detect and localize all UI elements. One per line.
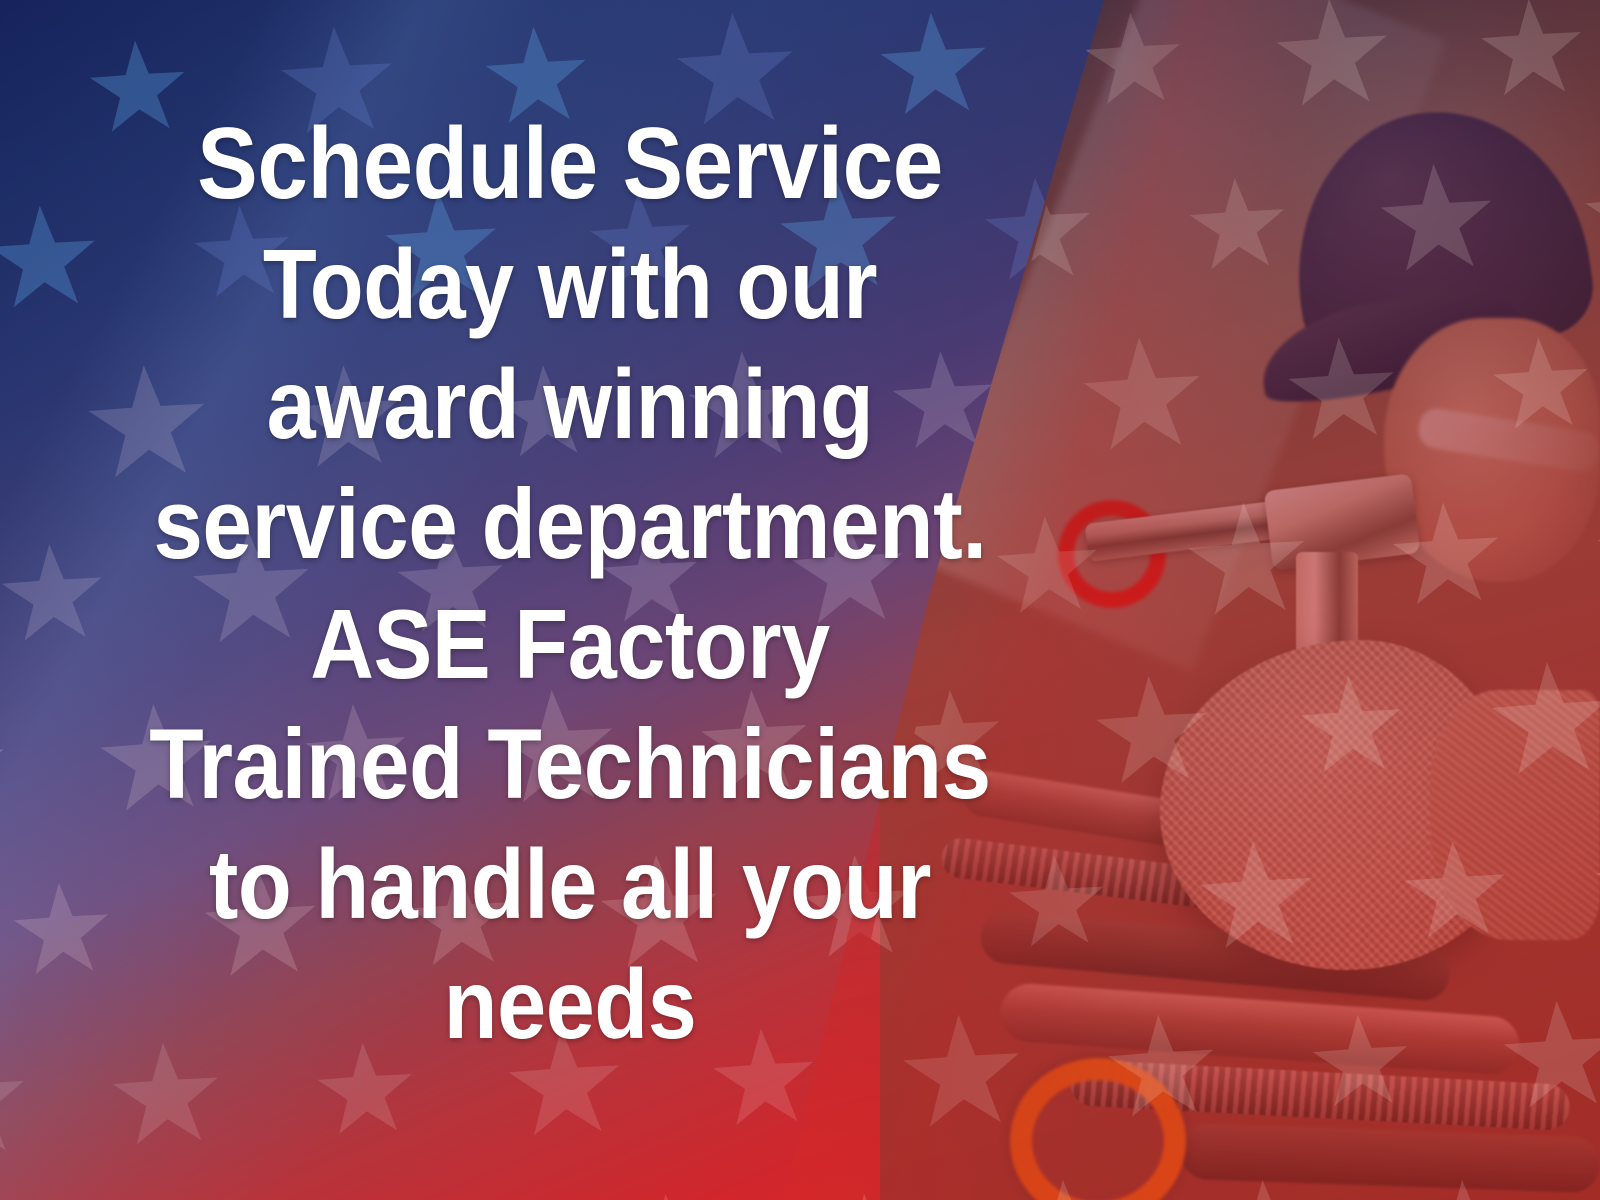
headline-line-6: Trained Technicians [93, 704, 1047, 824]
headline: Schedule Service Today with our award wi… [93, 104, 1047, 1064]
headline-line-5: ASE Factory [93, 584, 1047, 704]
headline-line-8: needs [93, 944, 1047, 1064]
star-icon [0, 714, 10, 819]
star-icon [0, 540, 108, 650]
headline-line-2: Today with our [93, 224, 1047, 344]
star-icon [0, 1038, 32, 1166]
service-promo-banner: Schedule Service Today with our award wi… [0, 0, 1600, 1200]
headline-line-7: to handle all your [93, 824, 1047, 944]
star-icon [0, 202, 102, 318]
headline-line-1: Schedule Service [93, 104, 1047, 224]
star-icon [0, 375, 4, 485]
headline-line-4: service department. [93, 464, 1047, 584]
star-icon [608, 1190, 730, 1200]
headline-line-3: award winning [93, 344, 1047, 464]
